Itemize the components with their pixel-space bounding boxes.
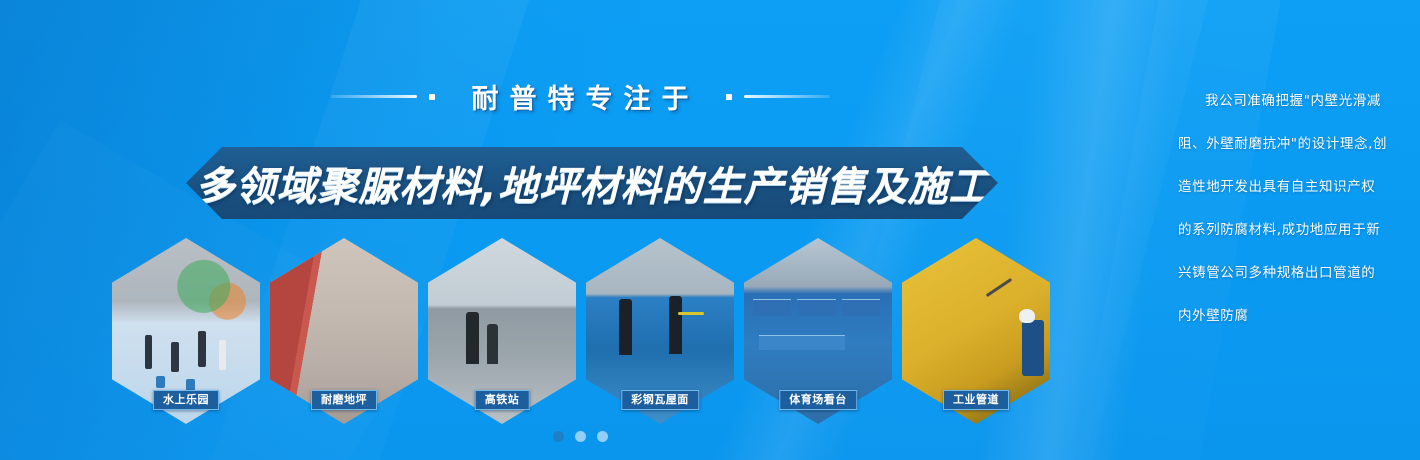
description-line: 兴铸管公司多种规格出口管道的 <box>1178 252 1392 295</box>
description-line: 的系列防腐材料,成功地应用于新 <box>1178 209 1392 252</box>
description-line: 造性地开发出具有自主知识产权 <box>1178 166 1392 209</box>
banner-headline: 多领域聚脲材料,地坪材料的生产销售及施工 <box>194 154 989 212</box>
hexagon-gallery: 水上乐园 耐磨地坪 高铁站 <box>112 238 1072 424</box>
headline-plaque: 多领域聚脲材料,地坪材料的生产销售及施工 <box>186 147 998 219</box>
gallery-item[interactable]: 高铁站 <box>428 238 576 424</box>
carousel-dot-2[interactable] <box>575 431 586 442</box>
decorative-line-left <box>331 94 435 98</box>
gallery-caption: 体育场看台 <box>779 390 857 410</box>
description-column: 我公司准确把握"内壁光滑减 阻、外壁耐磨抗冲"的设计理念,创 造性地开发出具有自… <box>1178 80 1392 338</box>
gallery-item[interactable]: 水上乐园 <box>112 238 260 424</box>
gallery-item[interactable]: 耐磨地坪 <box>270 238 418 424</box>
gallery-caption: 工业管道 <box>943 390 1009 410</box>
carousel-dot-1[interactable] <box>553 431 564 442</box>
gallery-item[interactable]: 彩钢瓦屋面 <box>586 238 734 424</box>
gallery-item[interactable]: 体育场看台 <box>744 238 892 424</box>
hero-banner: 耐普特专注于 多领域聚脲材料,地坪材料的生产销售及施工 水上乐园 <box>0 0 1420 460</box>
carousel-dot-3[interactable] <box>597 431 608 442</box>
subtitle-row: 耐普特专注于 <box>0 74 1160 118</box>
carousel-dots <box>0 431 1160 442</box>
gallery-item[interactable]: 工业管道 <box>902 238 1050 424</box>
description-line: 阻、外壁耐磨抗冲"的设计理念,创 <box>1178 123 1392 166</box>
description-line: 我公司准确把握"内壁光滑减 <box>1178 80 1392 123</box>
gallery-caption: 水上乐园 <box>153 390 219 410</box>
description-line: 内外壁防腐 <box>1178 295 1392 338</box>
decorative-line-right <box>726 94 830 98</box>
gallery-caption: 耐磨地坪 <box>311 390 377 410</box>
banner-subtitle: 耐普特专注于 <box>461 77 700 116</box>
gallery-caption: 彩钢瓦屋面 <box>621 390 699 410</box>
gallery-caption: 高铁站 <box>475 390 530 410</box>
